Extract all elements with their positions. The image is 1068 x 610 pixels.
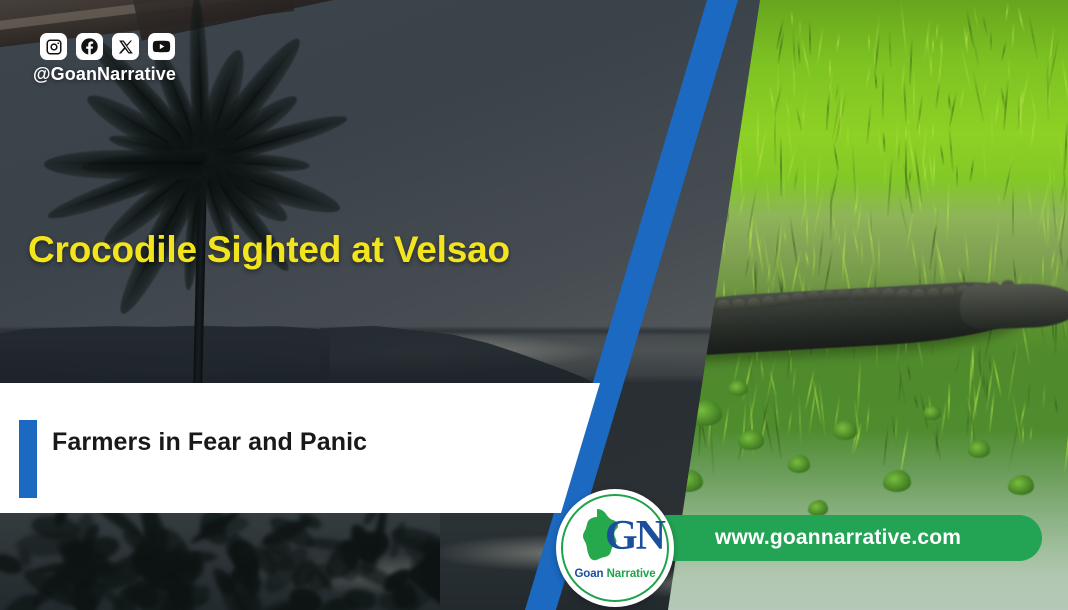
grass-blade <box>865 404 869 432</box>
grass-blade <box>754 259 756 295</box>
grass-blade <box>868 33 871 52</box>
brand-logo[interactable]: GN Goan Narrative <box>556 489 674 607</box>
social-icons-row <box>40 33 175 60</box>
grass-blade <box>956 164 958 186</box>
grass-blade <box>709 421 714 475</box>
grass-blade <box>1016 5 1024 34</box>
grass-blade <box>972 3 979 33</box>
grass-blade <box>739 141 743 204</box>
grass-blade <box>1028 13 1039 59</box>
grass-blade <box>1011 20 1015 52</box>
logo-initial-n: N <box>636 513 664 559</box>
grass-blade <box>805 249 810 266</box>
crocodile-scute <box>836 289 850 301</box>
grass-blade <box>989 30 992 51</box>
grass-blade <box>1064 119 1068 170</box>
social-handle: @GoanNarrative <box>33 64 176 85</box>
foreground-leaf <box>923 405 941 420</box>
crocodile-scute <box>777 294 791 306</box>
grass-blade <box>897 194 908 235</box>
grass-blade <box>1027 184 1033 222</box>
crocodile-scute <box>762 296 776 308</box>
grass-blade <box>897 139 900 163</box>
crocodile-scute <box>926 288 940 300</box>
grass-blade <box>818 228 825 275</box>
grass-blade <box>883 423 889 466</box>
grass-blade <box>1047 194 1049 249</box>
grass-blade <box>816 26 824 68</box>
grass-blade <box>949 125 955 172</box>
youtube-icon[interactable] <box>148 33 175 60</box>
grass-blade <box>833 142 840 171</box>
grass-blade <box>722 405 730 445</box>
crocodile-scute <box>911 288 925 300</box>
grass-blade <box>948 381 951 420</box>
headland-silhouette-right <box>320 322 620 384</box>
palm-frond <box>44 150 202 179</box>
grass-blade <box>889 28 892 67</box>
grass-blade <box>935 78 941 109</box>
grass-blade <box>866 104 872 144</box>
grass-blade <box>955 353 962 374</box>
grass-blade <box>792 367 797 397</box>
website-url-text: www.goannarrative.com <box>715 526 961 550</box>
grass-blade <box>982 16 988 36</box>
grass-blade <box>1012 185 1014 237</box>
grass-blade <box>882 131 885 152</box>
foreground-leaf <box>738 430 764 450</box>
grass-blade <box>1043 383 1047 410</box>
crocodile-scute <box>732 299 746 311</box>
grass-blade <box>931 36 934 55</box>
crocodile-scute <box>792 293 806 305</box>
crocodile-scute <box>851 289 865 301</box>
grass-blade <box>856 358 861 416</box>
grass-blade <box>1054 396 1058 413</box>
grass-blade <box>997 191 1002 209</box>
grass-blade <box>940 34 942 62</box>
grass-blade <box>936 22 939 42</box>
grass-blade <box>878 235 880 273</box>
grass-blade <box>959 85 966 112</box>
headline-text: Crocodile Sighted at Velsao <box>28 229 510 271</box>
grass-blade <box>931 121 934 142</box>
grass-blade <box>1027 379 1031 408</box>
grass-blade <box>798 395 802 444</box>
grass-blade <box>1047 88 1050 115</box>
instagram-icon[interactable] <box>40 33 67 60</box>
foreground-leaf <box>833 420 857 440</box>
crocodile-scute <box>821 290 835 302</box>
grass-blade <box>981 77 988 101</box>
grass-blade <box>765 176 771 219</box>
grass-blade <box>900 0 908 63</box>
logo-wordmark: Goan Narrative <box>561 568 669 580</box>
logo-word-goan: Goan <box>574 568 603 580</box>
grass-blade <box>1060 56 1068 111</box>
grass-blade <box>1005 2 1009 22</box>
foreground-leaf <box>1008 475 1034 495</box>
grass-blade <box>983 138 988 193</box>
grass-blade <box>964 232 970 274</box>
grass-blade <box>1065 250 1068 272</box>
grass-blade <box>861 237 864 267</box>
grass-blade <box>793 167 798 191</box>
grass-blade <box>993 93 1000 130</box>
foreground-leaf <box>968 440 990 458</box>
grass-blade <box>947 95 952 112</box>
crocodile-scute <box>747 298 761 310</box>
website-url-bar[interactable]: www.goannarrative.com <box>665 515 1042 561</box>
grass-blade <box>940 398 947 435</box>
foreground-leaf <box>883 470 911 492</box>
grass-blade <box>913 65 916 127</box>
crocodile-scute <box>866 289 880 301</box>
foreground-leaf <box>808 500 828 516</box>
grass-blade <box>911 237 918 269</box>
grass-blade <box>883 158 885 189</box>
grass-blade <box>1022 424 1024 444</box>
logo-word-narrative: Narrative <box>607 568 656 580</box>
crocodile-scute <box>881 289 895 301</box>
crocodile-head <box>959 282 1068 330</box>
grass-blade <box>881 69 884 119</box>
social-media-news-card: @GoanNarrative Crocodile Sighted at Vels… <box>0 0 1068 610</box>
crocodile-scute <box>941 286 955 298</box>
grass-blade <box>973 38 980 67</box>
grass-blade <box>1042 253 1045 284</box>
grass-blade <box>887 155 893 216</box>
grass-blade <box>760 357 765 380</box>
grass-blade <box>1001 40 1007 61</box>
grass-blade <box>1053 166 1056 188</box>
logo-initial-g: G <box>605 513 636 559</box>
grass-blade <box>903 77 907 122</box>
grass-blade <box>907 363 911 381</box>
grass-blade <box>809 20 812 55</box>
grass-blade <box>992 216 1000 280</box>
grass-blade <box>1030 426 1033 442</box>
grass-blade <box>946 181 950 244</box>
grass-blade <box>836 33 841 53</box>
foreground-leaf <box>788 455 810 473</box>
grass-blade <box>864 63 871 92</box>
grass-blade <box>1054 252 1060 288</box>
grass-blade <box>908 169 912 183</box>
grass-blade <box>913 394 918 409</box>
grass-blade <box>1051 183 1058 236</box>
grass-blade <box>929 52 932 81</box>
facebook-icon[interactable] <box>76 33 103 60</box>
crocodile-scute <box>806 291 820 303</box>
foreground-leaf <box>728 380 748 396</box>
subtitle-text: Farmers in Fear and Panic <box>52 428 532 457</box>
grass-blade <box>1063 415 1068 475</box>
grass-blade <box>894 413 899 446</box>
grass-blade <box>782 226 787 244</box>
grass-blade <box>969 157 975 182</box>
crocodile-scute <box>896 289 910 301</box>
x-twitter-icon[interactable] <box>112 33 139 60</box>
crocodile-scute <box>717 299 731 311</box>
headland-silhouette-left <box>0 318 330 386</box>
grass-blade <box>905 125 907 142</box>
grass-blade <box>746 84 750 99</box>
grass-blade <box>847 123 849 152</box>
grass-blade <box>939 143 944 165</box>
grass-blade <box>805 209 808 248</box>
grass-blade <box>777 56 780 110</box>
logo-monogram: GN <box>605 515 664 557</box>
subtitle-accent-bar <box>19 420 37 498</box>
grass-blade <box>829 186 832 240</box>
grass-blade <box>787 410 792 434</box>
grass-blade <box>791 10 794 27</box>
